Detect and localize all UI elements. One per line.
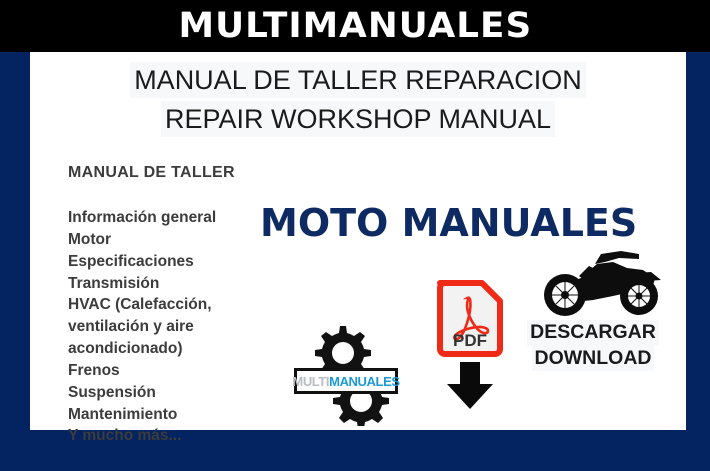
list-item: Suspensión (68, 382, 283, 404)
list-item: Frenos (68, 360, 283, 382)
brand-title: MULTIMANUALES (178, 9, 532, 44)
download-label-es: DESCARGAR (527, 320, 659, 346)
gears-logo-text-multi: MULTI (292, 374, 329, 389)
gears-logo-text-manuales: MANUALES (329, 374, 399, 389)
list-item: Información general (68, 207, 283, 229)
gears-logo-icon: MULTIMANUALES (292, 324, 400, 426)
list-item: Transmisión (68, 273, 283, 295)
list-item: Y mucho más... (68, 425, 283, 447)
pdf-label: PDF (453, 331, 487, 350)
content-card: MANUAL DE TALLER REPARACION REPAIR WORKS… (30, 52, 686, 430)
list-item: HVAC (Calefacción, ventilación y aire ac… (68, 294, 283, 360)
heading-line-en: REPAIR WORKSHOP MANUAL (161, 101, 555, 137)
headings-block: MANUAL DE TALLER REPARACION REPAIR WORKS… (30, 62, 686, 137)
toc-list: Información general Motor Especificacion… (68, 207, 283, 447)
pdf-file-icon[interactable]: PDF (434, 280, 506, 358)
download-arrow-icon[interactable] (434, 362, 506, 410)
list-item: Especificaciones (68, 251, 283, 273)
section-title: MANUAL DE TALLER (68, 164, 235, 182)
gears-logo-banner: MULTIMANUALES (294, 368, 398, 394)
poster-root: MULTIMANUALES MANUAL DE TALLER REPARACIO… (0, 0, 710, 471)
download-label-en: DOWNLOAD (532, 346, 655, 372)
download-text-block[interactable]: DESCARGAR DOWNLOAD (500, 320, 686, 371)
list-item: Mantenimiento (68, 404, 283, 426)
heading-line-es: MANUAL DE TALLER REPARACION (130, 62, 586, 98)
motorcycle-silhouette-icon (535, 248, 670, 318)
moto-manuales-wordmark: MOTO MANUALES (260, 204, 680, 242)
list-item: Motor (68, 229, 283, 251)
top-brand-bar: MULTIMANUALES (0, 0, 710, 52)
